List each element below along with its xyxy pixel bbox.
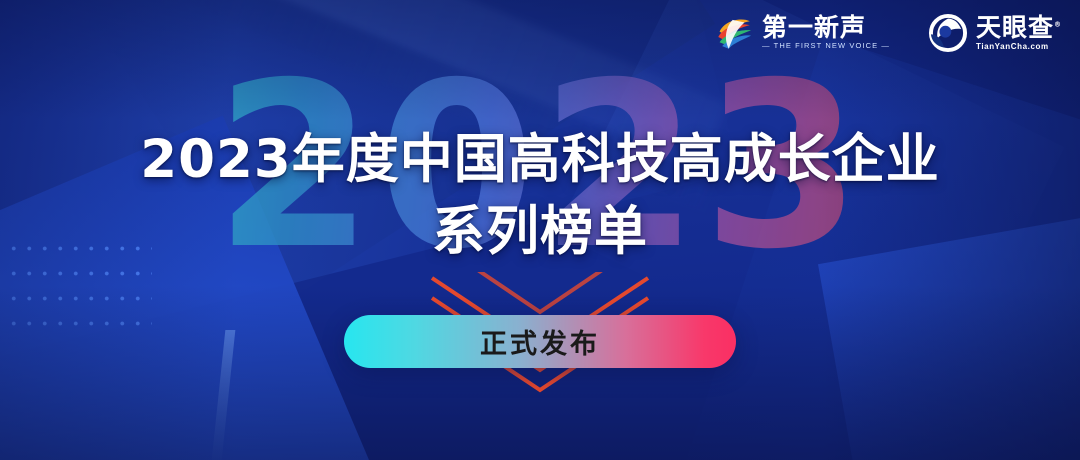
headline: 2023年度中国高科技高成长企业 系列榜单	[0, 128, 1080, 264]
logo-tianyancha-name: 天眼查®	[976, 14, 1062, 41]
eye-aperture-icon	[927, 12, 969, 54]
release-badge[interactable]: 正式发布	[344, 315, 736, 368]
logo-diyixinsheng-name: 第一新声	[762, 14, 890, 41]
headline-line-2: 系列榜单	[0, 200, 1080, 264]
logo-diyixinsheng[interactable]: 第一新声 — THE FIRST NEW VOICE —	[713, 12, 890, 54]
swirl-ribbon-icon	[713, 12, 755, 54]
headline-line-1: 2023年度中国高科技高成长企业	[0, 128, 1080, 192]
logo-tianyancha-text: 天眼查® TianYanCha.com	[976, 14, 1062, 52]
logo-bar: 第一新声 — THE FIRST NEW VOICE — 天眼查® TianYa…	[713, 12, 1062, 54]
trademark-icon: ®	[1054, 21, 1062, 29]
release-badge-label: 正式发布	[480, 322, 600, 361]
logo-tianyancha[interactable]: 天眼查® TianYanCha.com	[927, 12, 1062, 54]
logo-divider	[908, 18, 909, 48]
logo-tianyancha-name-text: 天眼查	[976, 13, 1054, 42]
logo-tianyancha-tagline: TianYanCha.com	[976, 41, 1062, 52]
promo-banner: 2023 2023年度中国高科技高成长企业 系列榜单 正式发布	[0, 0, 1080, 460]
logo-diyixinsheng-tagline: — THE FIRST NEW VOICE —	[762, 41, 890, 52]
logo-diyixinsheng-text: 第一新声 — THE FIRST NEW VOICE —	[762, 14, 890, 52]
